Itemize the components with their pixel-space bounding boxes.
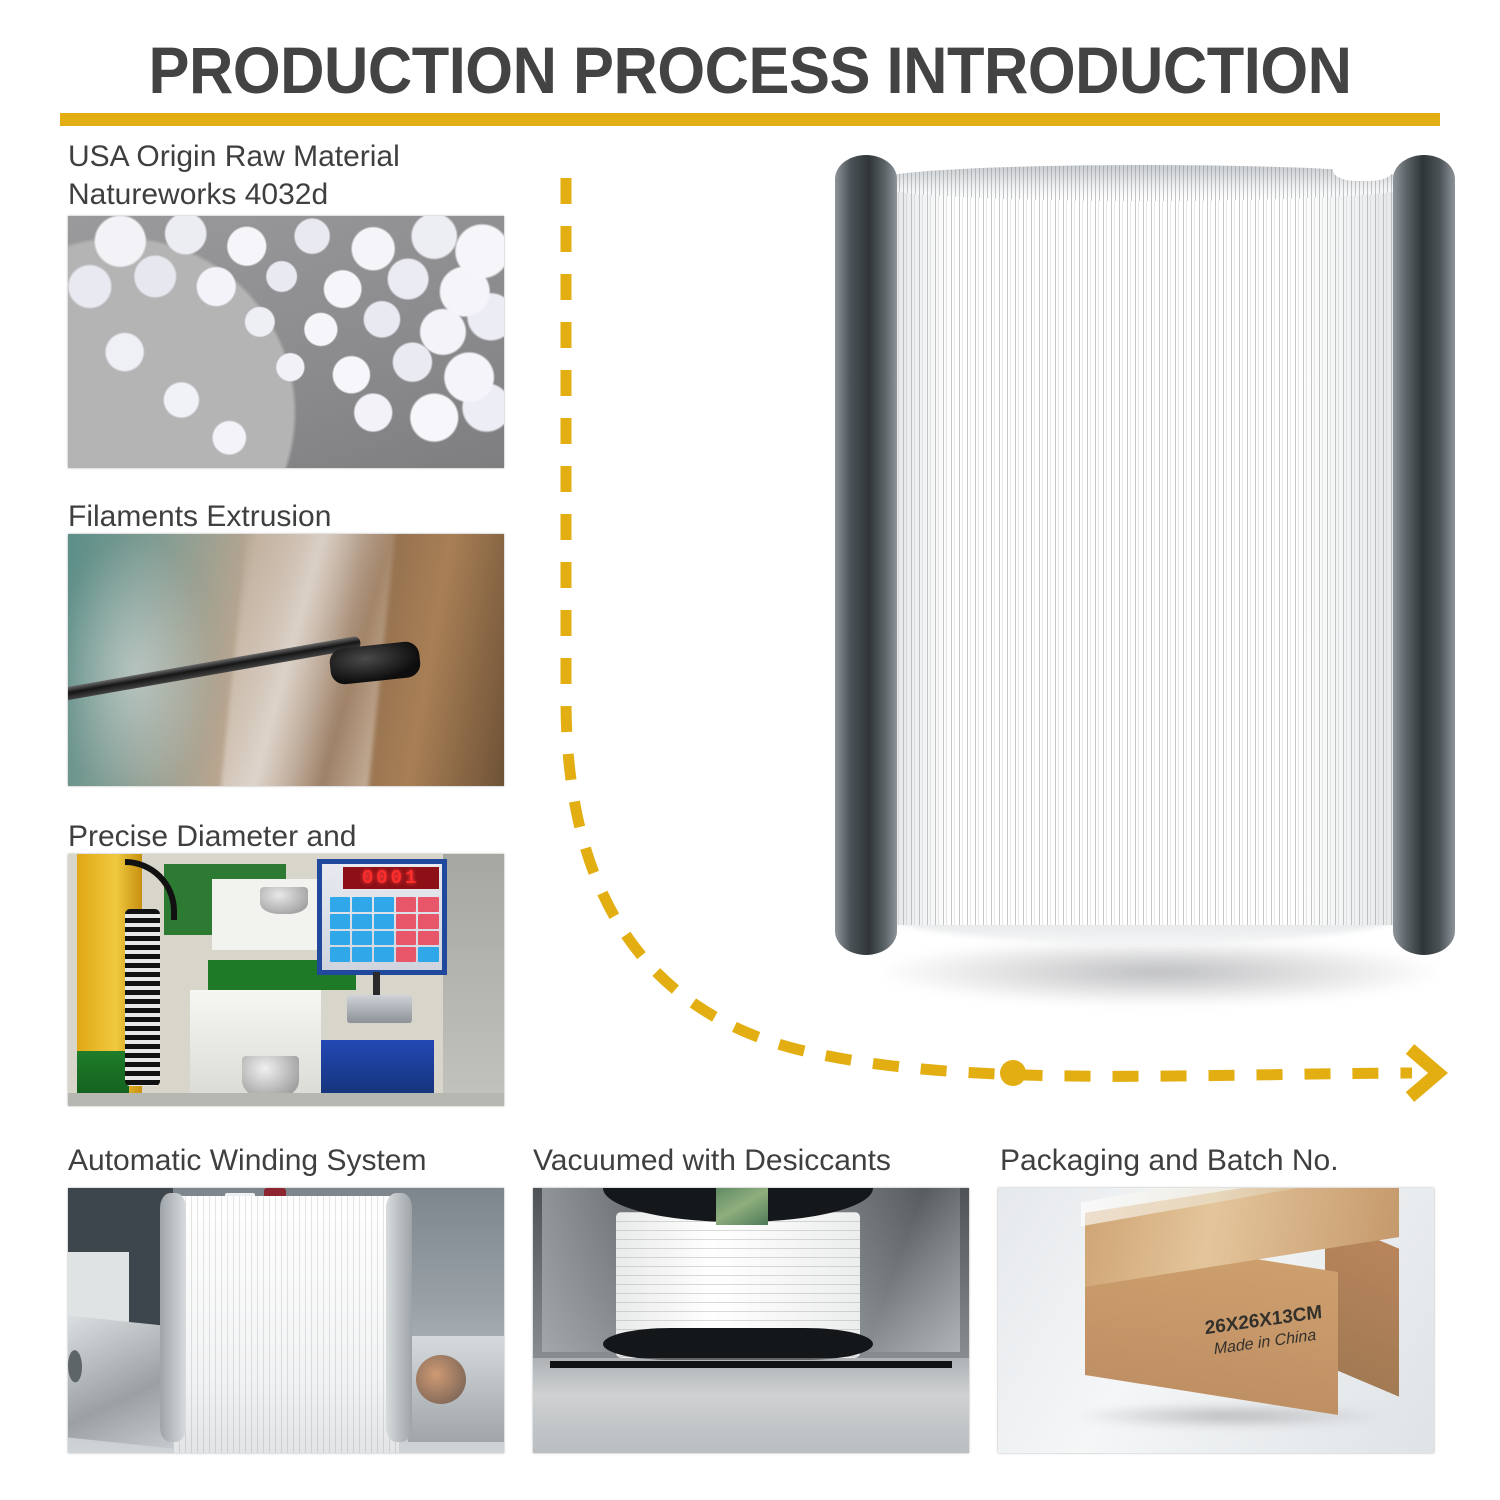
vacuum-spool-flange-bottom (603, 1328, 873, 1360)
spool-coil-top-edge (879, 165, 1411, 201)
flow-arrow-head-icon (1410, 1049, 1438, 1097)
winder-metal-block-right (408, 1336, 504, 1442)
caption-vacuum: Vacuumed with Desiccants (533, 1142, 1013, 1180)
machine-right-panel (443, 854, 504, 1106)
keypad-key[interactable] (396, 931, 416, 946)
page-title: PRODUCTION PROCESS INTRODUCTION (53, 32, 1448, 108)
photo-precise-diameter: 0001 (68, 854, 504, 1106)
control-keypad (330, 897, 439, 963)
keypad-key[interactable] (418, 947, 438, 962)
desiccant-pack (716, 1188, 768, 1225)
keypad-key[interactable] (330, 914, 350, 929)
extrusion-background-blur (68, 534, 216, 786)
caption-packaging: Packaging and Batch No. (1000, 1142, 1480, 1180)
caption-precise-diameter: Precise Diameter and (68, 818, 528, 856)
machine-floor (68, 1093, 504, 1106)
keypad-key[interactable] (330, 947, 350, 962)
photo-winding (68, 1188, 504, 1453)
keypad-key[interactable] (418, 897, 438, 912)
keypad-key[interactable] (418, 914, 438, 929)
caption-raw-material: USA Origin Raw Material Natureworks 4032… (68, 138, 528, 214)
winder-metal-block-left (68, 1315, 173, 1448)
metal-fixture-lower (242, 1056, 299, 1099)
keypad-key[interactable] (374, 897, 394, 912)
keypad-key[interactable] (418, 931, 438, 946)
keypad-key[interactable] (396, 897, 416, 912)
keypad-key[interactable] (396, 914, 416, 929)
spool-coil-notch (1333, 155, 1393, 181)
keypad-key[interactable] (374, 914, 394, 929)
spool-flange-right (1393, 155, 1455, 955)
led-readout: 0001 (343, 867, 439, 890)
spool-drop-shadow (880, 945, 1440, 1005)
vacuum-bag-lower (533, 1358, 969, 1453)
pellets-pile (68, 216, 504, 468)
keypad-key[interactable] (352, 914, 372, 929)
machine-coiled-cable (125, 909, 160, 1085)
metal-fixture-upper (260, 887, 308, 915)
keypad-key[interactable] (352, 931, 372, 946)
title-divider-rule (60, 113, 1440, 126)
caption-winding: Automatic Winding System (68, 1142, 548, 1180)
winding-filament-coil (173, 1196, 400, 1453)
keypad-key[interactable] (396, 947, 416, 962)
spool-body (835, 155, 1455, 955)
caption-extrusion: Filaments Extrusion (68, 498, 528, 536)
keypad-key[interactable] (352, 897, 372, 912)
production-process-infographic: PRODUCTION PROCESS INTRODUCTION USA Orig… (0, 0, 1500, 1500)
vacuum-bag-seam (550, 1361, 951, 1368)
photo-vacuum (533, 1188, 969, 1453)
keypad-key[interactable] (330, 897, 350, 912)
measuring-clamp (347, 995, 412, 1023)
keypad-key[interactable] (352, 947, 372, 962)
keypad-key[interactable] (374, 947, 394, 962)
winding-spool-flange-right (386, 1193, 412, 1442)
photo-extrusion (68, 534, 504, 786)
flow-arrow-dot-marker (1000, 1060, 1026, 1086)
winder-bore-right (416, 1355, 466, 1404)
keypad-key[interactable] (330, 931, 350, 946)
winder-bore-left (68, 1349, 82, 1382)
winding-spool-flange-left (160, 1193, 186, 1442)
spool-flange-left (835, 155, 897, 955)
hero-filament-spool (780, 155, 1500, 1055)
photo-raw-material (68, 216, 504, 468)
photo-packaging: 26X26X13CM Made in China (998, 1188, 1434, 1453)
box-drop-shadow (1068, 1403, 1391, 1430)
keypad-key[interactable] (374, 931, 394, 946)
spool-filament-winding (879, 177, 1411, 925)
